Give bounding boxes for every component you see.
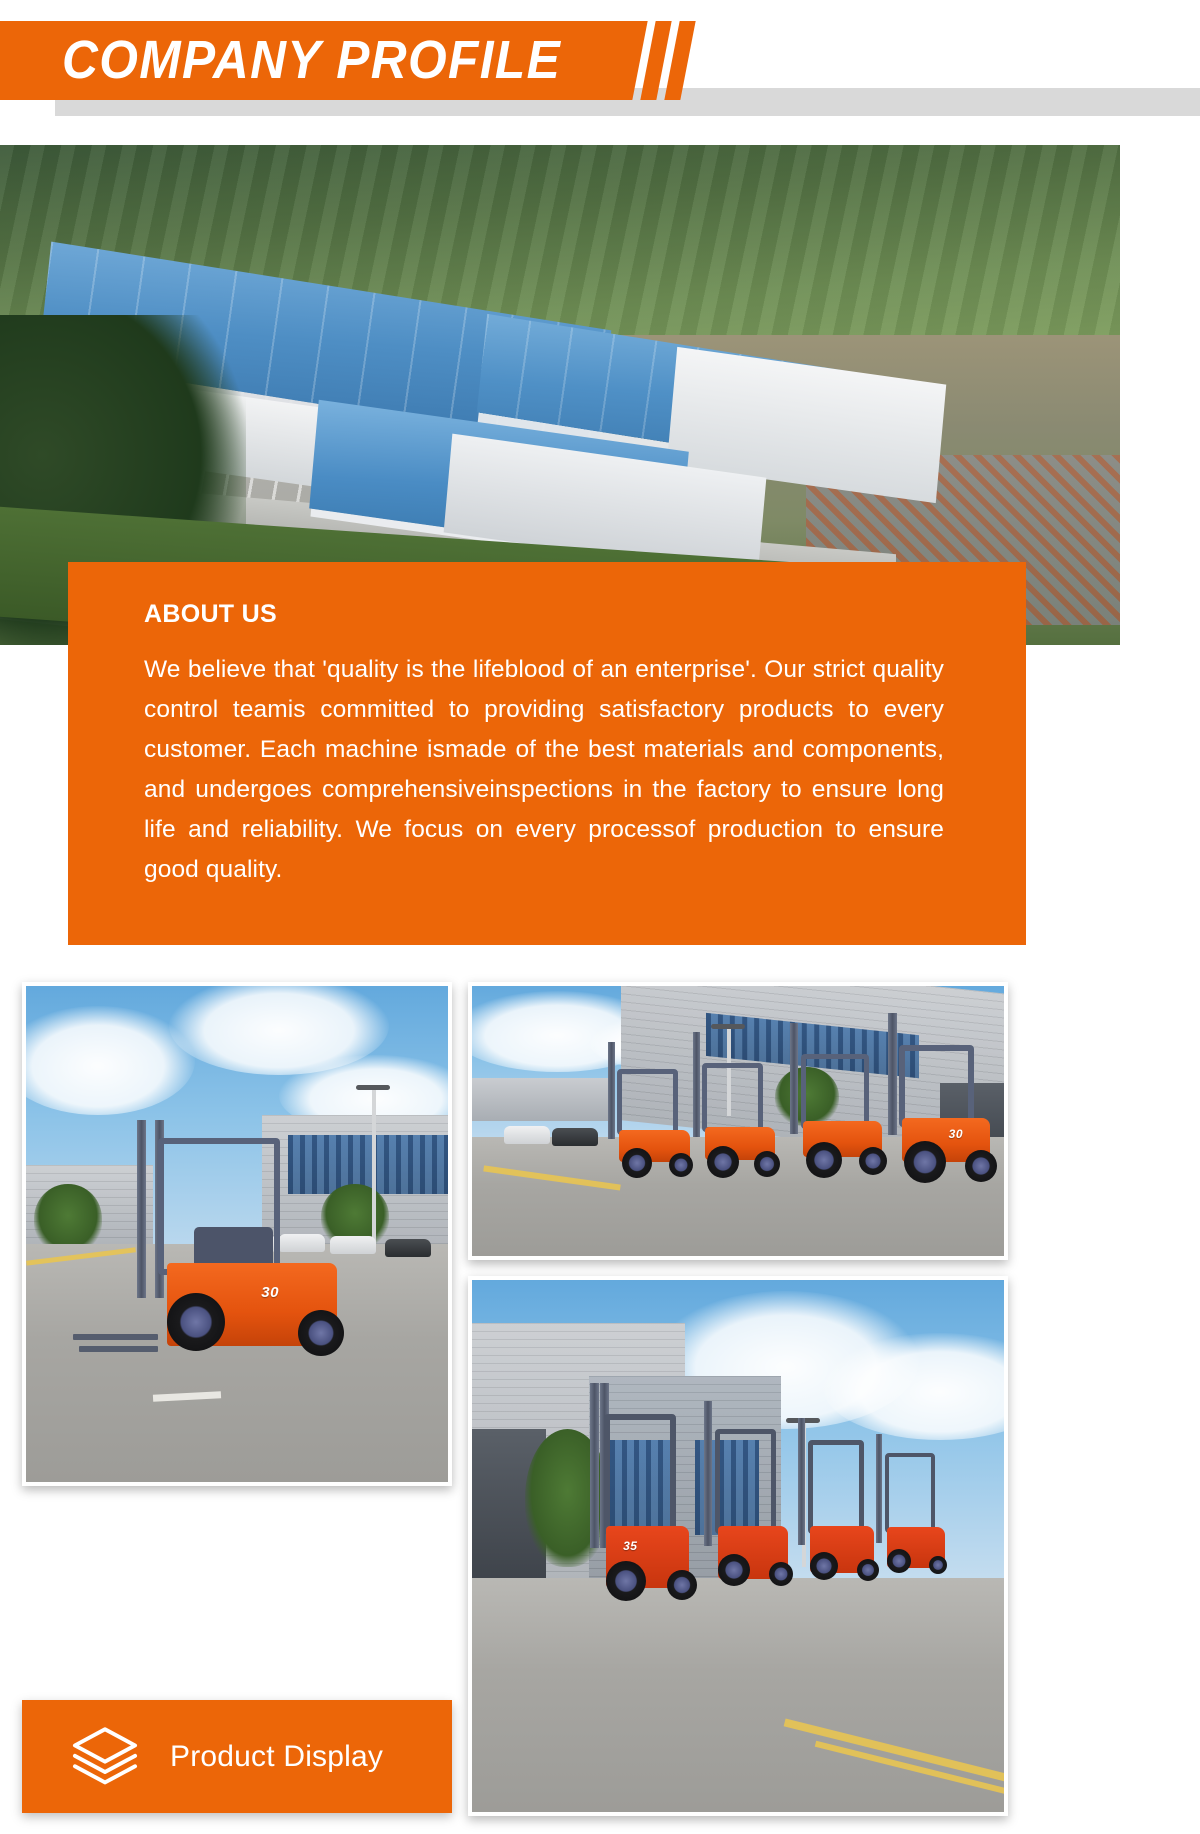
forklift-mast: [693, 1032, 700, 1137]
forklift: 30: [866, 1051, 1004, 1197]
forklift-front-wheel: [887, 1549, 911, 1573]
company-profile-page: COMPANY PROFILE ABOUT US We believe that…: [0, 0, 1200, 1834]
forklift-rear-wheel: [965, 1150, 997, 1182]
forklift-overhead-guard: [617, 1069, 678, 1135]
forklift-model-badge: 30: [949, 1127, 963, 1141]
product-display-label: Product Display: [170, 1740, 383, 1774]
forklift-mast: [137, 1120, 146, 1299]
forklift: 30: [85, 1120, 389, 1418]
forklift-overhead-guard: [702, 1063, 763, 1132]
forklift-mast: [608, 1042, 615, 1140]
product-display-badge[interactable]: Product Display: [22, 1700, 452, 1813]
forklift-fork: [79, 1346, 158, 1352]
forklift-overhead-guard: [801, 1054, 870, 1129]
forklift-mast: [888, 1013, 897, 1135]
forklift-mast: [876, 1434, 882, 1543]
parked-car: [385, 1239, 431, 1257]
layers-icon: [68, 1720, 142, 1794]
forklift-front-wheel: [167, 1293, 225, 1351]
product-photo-1[interactable]: 30: [22, 982, 452, 1486]
forklift-overhead-guard: [899, 1045, 974, 1127]
forklift: [860, 1450, 956, 1610]
forklift-overhead-guard: [808, 1440, 863, 1534]
forklift-front-wheel: [904, 1141, 946, 1183]
forklift-front-wheel: [707, 1146, 739, 1178]
product-image-grid: 30: [0, 0, 1200, 1834]
forklift-mast: [590, 1383, 599, 1548]
forklift-mast: [704, 1401, 712, 1547]
forklift-rear-wheel: [298, 1310, 344, 1356]
parked-car: [504, 1126, 550, 1144]
forklift-overhead-guard: [715, 1429, 776, 1534]
forklift-model-badge: 35: [623, 1539, 637, 1553]
forklift-rear-wheel: [929, 1556, 947, 1574]
forklift-front-wheel: [622, 1148, 652, 1178]
forklift-overhead-guard: [885, 1453, 935, 1533]
forklift-model-badge: 30: [261, 1284, 279, 1301]
forklift-mast: [790, 1023, 798, 1134]
forklift-mast: [798, 1418, 805, 1545]
forklift-front-wheel: [806, 1142, 842, 1178]
forklift-overhead-guard: [604, 1414, 676, 1535]
forklift-front-wheel: [718, 1554, 750, 1586]
product-photo-2[interactable]: 30: [468, 982, 1008, 1260]
forklift-front-wheel: [606, 1561, 646, 1601]
forklift-front-wheel: [810, 1552, 838, 1580]
forklift-fork: [73, 1334, 158, 1340]
product-photo-3[interactable]: 35: [468, 1276, 1008, 1816]
